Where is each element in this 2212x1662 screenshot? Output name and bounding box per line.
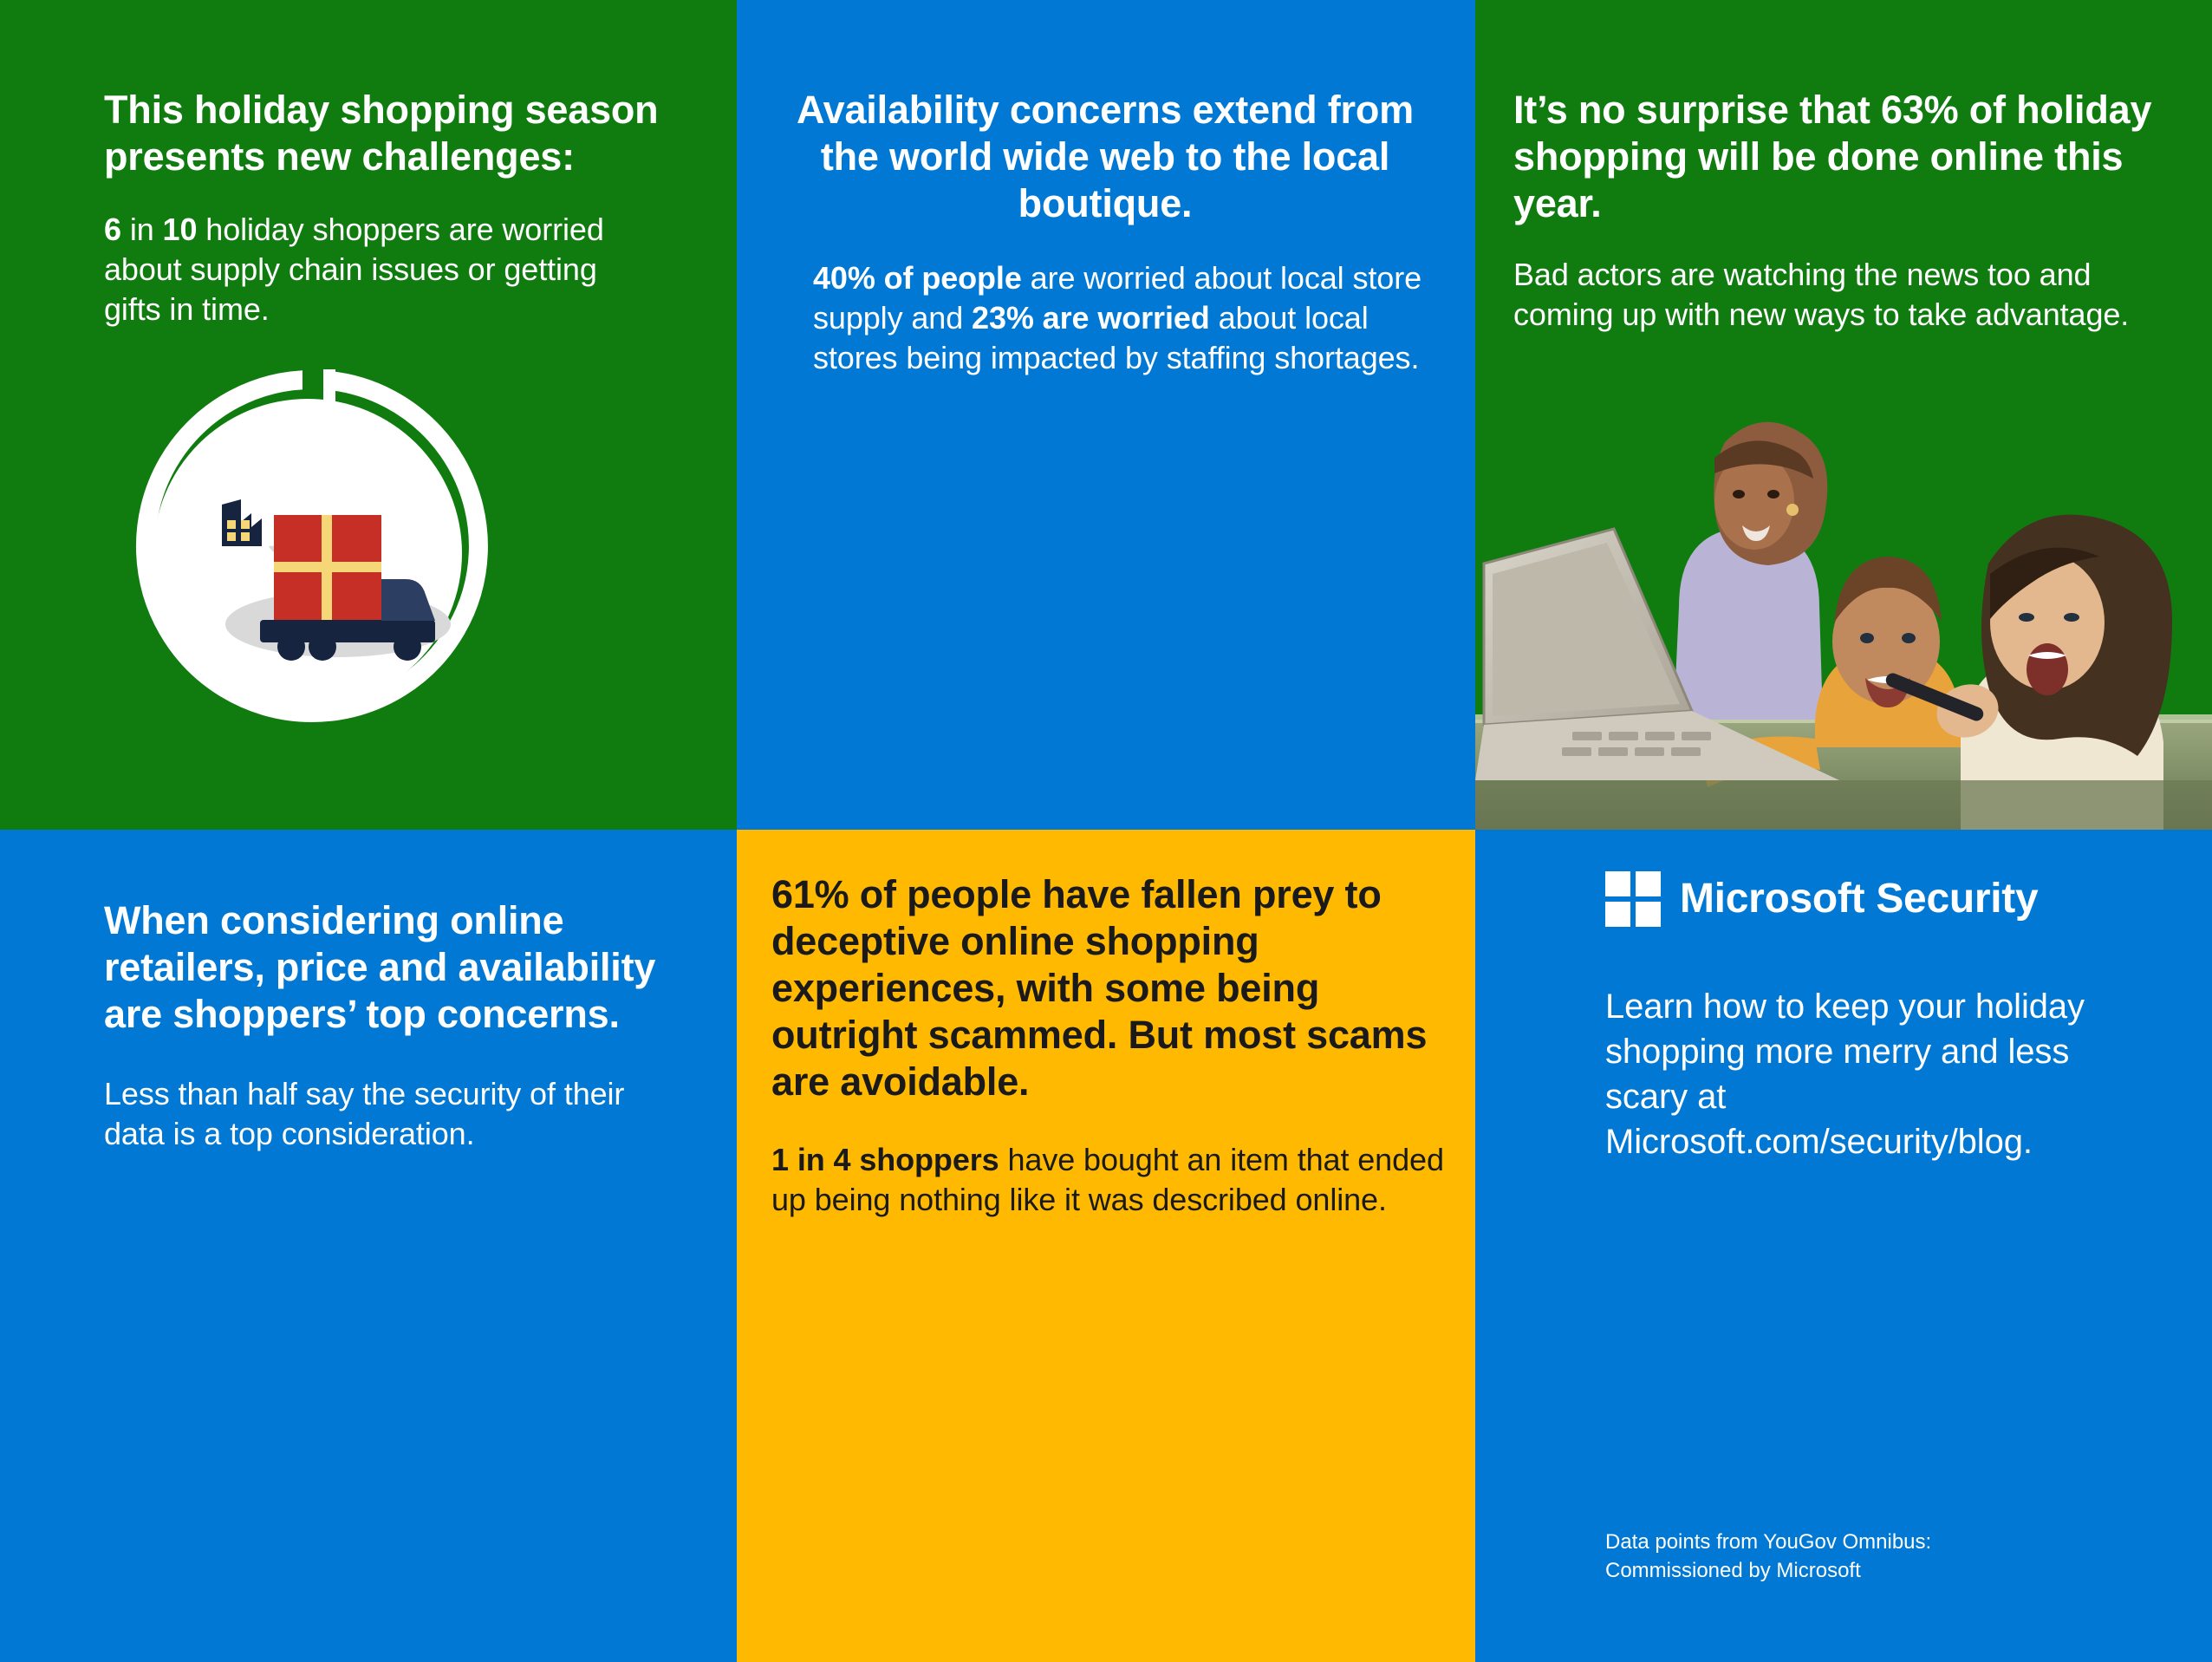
panel-availability: Availability concerns extend from the wo…	[737, 0, 1475, 830]
panel-scams-body: 1 in 4 shoppers have bought an item that…	[771, 1140, 1465, 1220]
data-source-line-1: Data points from YouGov Omnibus:	[1605, 1528, 2091, 1556]
panel-cta-content: Microsoft Security Learn how to keep you…	[1605, 871, 2160, 1164]
panel-scams: 61% of people have fallen prey to decept…	[737, 830, 1475, 1662]
panel-supply-chain-body: 6 in 10 holiday shoppers are worried abo…	[104, 210, 659, 329]
microsoft-logo-icon	[1605, 871, 1661, 927]
panel-online-shopping-body: Bad actors are watching the news too and…	[1513, 255, 2198, 335]
supply-body-connector: in	[121, 212, 163, 247]
panel-online-retailers-headline: When considering online retailers, price…	[104, 897, 659, 1038]
panel-supply-chain: This holiday shopping season presents ne…	[0, 0, 737, 830]
microsoft-security-lockup: Microsoft Security	[1605, 871, 2160, 927]
panel-online-retailers: When considering online retailers, price…	[0, 830, 737, 1662]
panel-scams-text: 61% of people have fallen prey to decept…	[771, 871, 1465, 1220]
brand-name: Microsoft Security	[1680, 878, 2038, 920]
panel-cta-body: Learn how to keep your holiday shopping …	[1605, 984, 2160, 1164]
supply-chain-truck-icon	[130, 364, 494, 728]
stat-1-in-4-shoppers: 1 in 4 shoppers	[771, 1142, 999, 1177]
stat-23-percent-worried: 23% are worried	[972, 300, 1210, 336]
panel-online-retailers-body: Less than half say the security of their…	[104, 1074, 659, 1154]
panel-supply-chain-text: This holiday shopping season presents ne…	[104, 87, 659, 329]
data-source-line-2: Commissioned by Microsoft	[1605, 1556, 2091, 1585]
infographic-page: This holiday shopping season presents ne…	[0, 0, 2212, 1662]
family-at-laptop-photo	[1475, 347, 2212, 830]
panel-availability-text: Availability concerns extend from the wo…	[763, 87, 1448, 378]
panel-supply-chain-headline: This holiday shopping season presents ne…	[104, 87, 659, 180]
panel-online-shopping-headline: It’s no surprise that 63% of holiday sho…	[1513, 87, 2198, 227]
data-source-note: Data points from YouGov Omnibus: Commiss…	[1605, 1528, 2091, 1585]
panel-availability-body: 40% of people are worried about local st…	[763, 258, 1448, 378]
panel-availability-headline: Availability concerns extend from the wo…	[763, 87, 1448, 227]
panel-online-retailers-text: When considering online retailers, price…	[104, 897, 659, 1154]
panel-scams-headline: 61% of people have fallen prey to decept…	[771, 871, 1465, 1105]
panel-cta: Microsoft Security Learn how to keep you…	[1475, 830, 2212, 1662]
stat-6: 6	[104, 212, 121, 247]
stat-10: 10	[163, 212, 198, 247]
stat-40-percent-of-people: 40% of people	[813, 260, 1022, 296]
panel-online-shopping-text: It’s no surprise that 63% of holiday sho…	[1513, 87, 2198, 335]
